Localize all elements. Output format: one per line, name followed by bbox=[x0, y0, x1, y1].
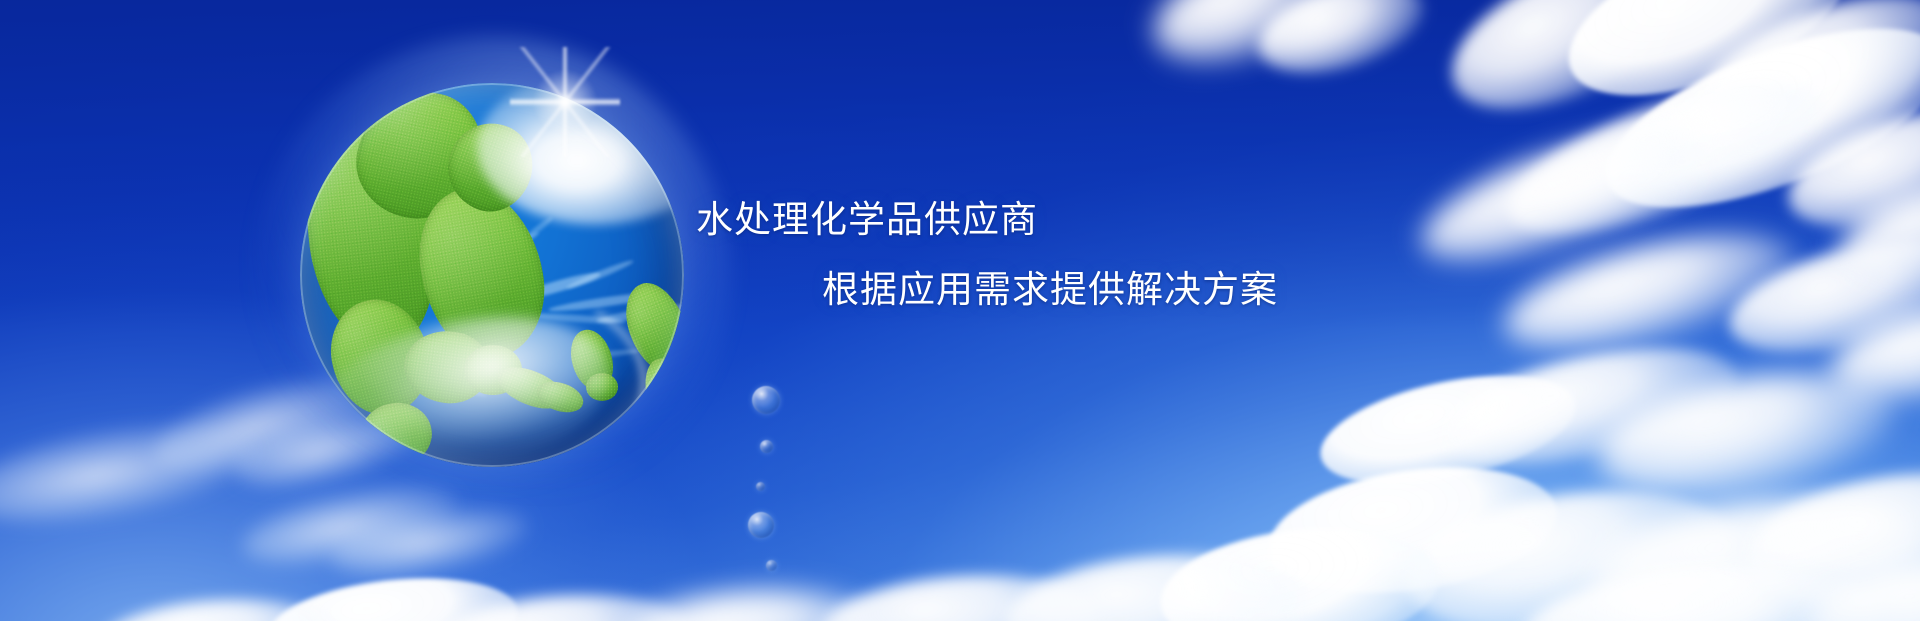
headline-line-2: 根据应用需求提供解决方案 bbox=[696, 262, 1396, 318]
globe-sphere bbox=[300, 83, 684, 467]
water-droplet bbox=[766, 560, 777, 571]
headline-line-1: 水处理化学品供应商 bbox=[696, 192, 1396, 248]
globe-glass-rim bbox=[300, 83, 684, 467]
sun-flare-icon bbox=[510, 47, 620, 157]
water-droplet bbox=[760, 440, 773, 453]
water-droplet bbox=[752, 386, 780, 414]
water-droplet bbox=[748, 512, 774, 538]
water-droplet bbox=[756, 482, 765, 491]
earth-globe-graphic bbox=[300, 83, 684, 467]
banner-headline: 水处理化学品供应商 根据应用需求提供解决方案 bbox=[696, 192, 1396, 318]
hero-banner: 水处理化学品供应商 根据应用需求提供解决方案 bbox=[0, 0, 1920, 621]
